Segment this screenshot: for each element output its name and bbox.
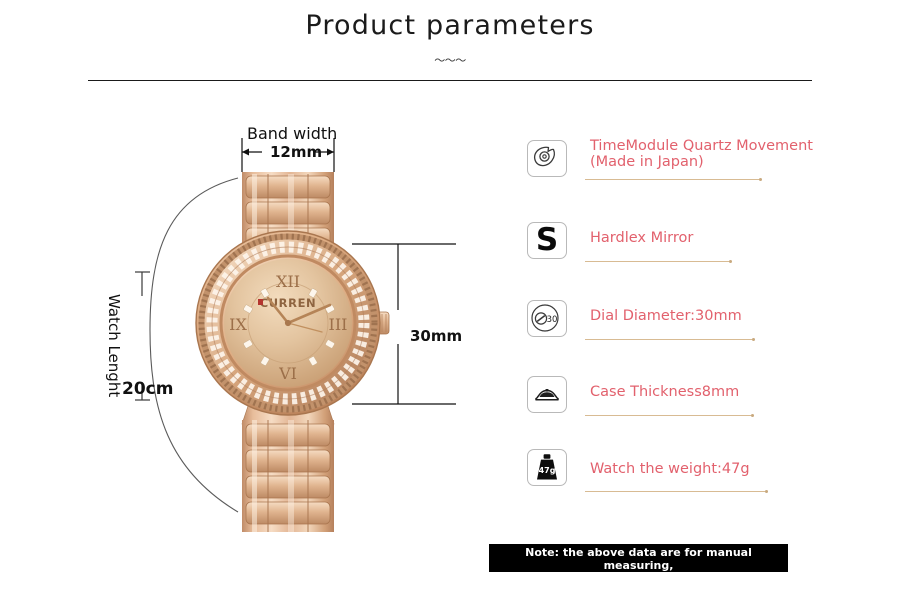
feature-underline-dial-diameter — [585, 339, 752, 340]
feature-underline-weight — [585, 491, 765, 492]
hardlex-s-icon: S — [527, 222, 567, 259]
bracelet-lower — [242, 400, 334, 532]
case-thickness-icon — [527, 376, 567, 413]
feature-item-case-thickness: Case Thickness8mm — [527, 376, 887, 450]
feature-label-mirror: Hardlex Mirror — [590, 230, 693, 246]
watch-head: CURREN XII III VI IX — [196, 231, 380, 415]
measurement-note-banner: Note: the above data are for manual meas… — [489, 544, 788, 572]
feature-item-dial-diameter: 30 Dial Diameter:30mm — [527, 300, 887, 374]
svg-text:IX: IX — [229, 315, 247, 334]
svg-text:XII: XII — [276, 272, 300, 291]
watch-length-value: 20cm — [122, 379, 173, 399]
feature-item-weight: 47g Watch the weight:47g — [527, 449, 887, 523]
feature-label-movement: TimeModule Quartz Movement (Made in Japa… — [590, 138, 813, 170]
case-diameter-value: 30mm — [410, 327, 462, 345]
feature-item-mirror: S Hardlex Mirror — [527, 222, 887, 296]
svg-text:30: 30 — [547, 315, 558, 325]
hardlex-s-glyph: S — [528, 223, 566, 258]
watch-weight-icon: 47g — [527, 449, 567, 486]
quartz-movement-icon — [527, 140, 567, 177]
feature-label-weight: Watch the weight:47g — [590, 461, 750, 477]
band-width-value: 12mm — [270, 143, 322, 161]
weight-icon-value: 47g — [539, 466, 556, 475]
band-width-label: Band width — [247, 124, 337, 143]
product-parameters-infographic: Product parameters ～～～ — [0, 0, 900, 614]
feature-item-movement: TimeModule Quartz Movement (Made in Japa… — [527, 140, 887, 214]
svg-text:III: III — [329, 315, 348, 334]
feature-underline-movement — [585, 179, 759, 180]
feature-underline-case-thickness — [585, 415, 751, 416]
watch-length-label: Watch Lenght — [105, 294, 123, 397]
feature-label-case-thickness: Case Thickness8mm — [590, 384, 739, 400]
watch-illustration: CURREN XII III VI IX — [0, 0, 520, 614]
watch-diagram: CURREN XII III VI IX — [0, 0, 520, 614]
svg-text:VI: VI — [278, 364, 297, 383]
feature-label-dial-diameter: Dial Diameter:30mm — [590, 308, 742, 324]
dial-diameter-icon: 30 — [527, 300, 567, 337]
feature-underline-mirror — [585, 261, 729, 262]
